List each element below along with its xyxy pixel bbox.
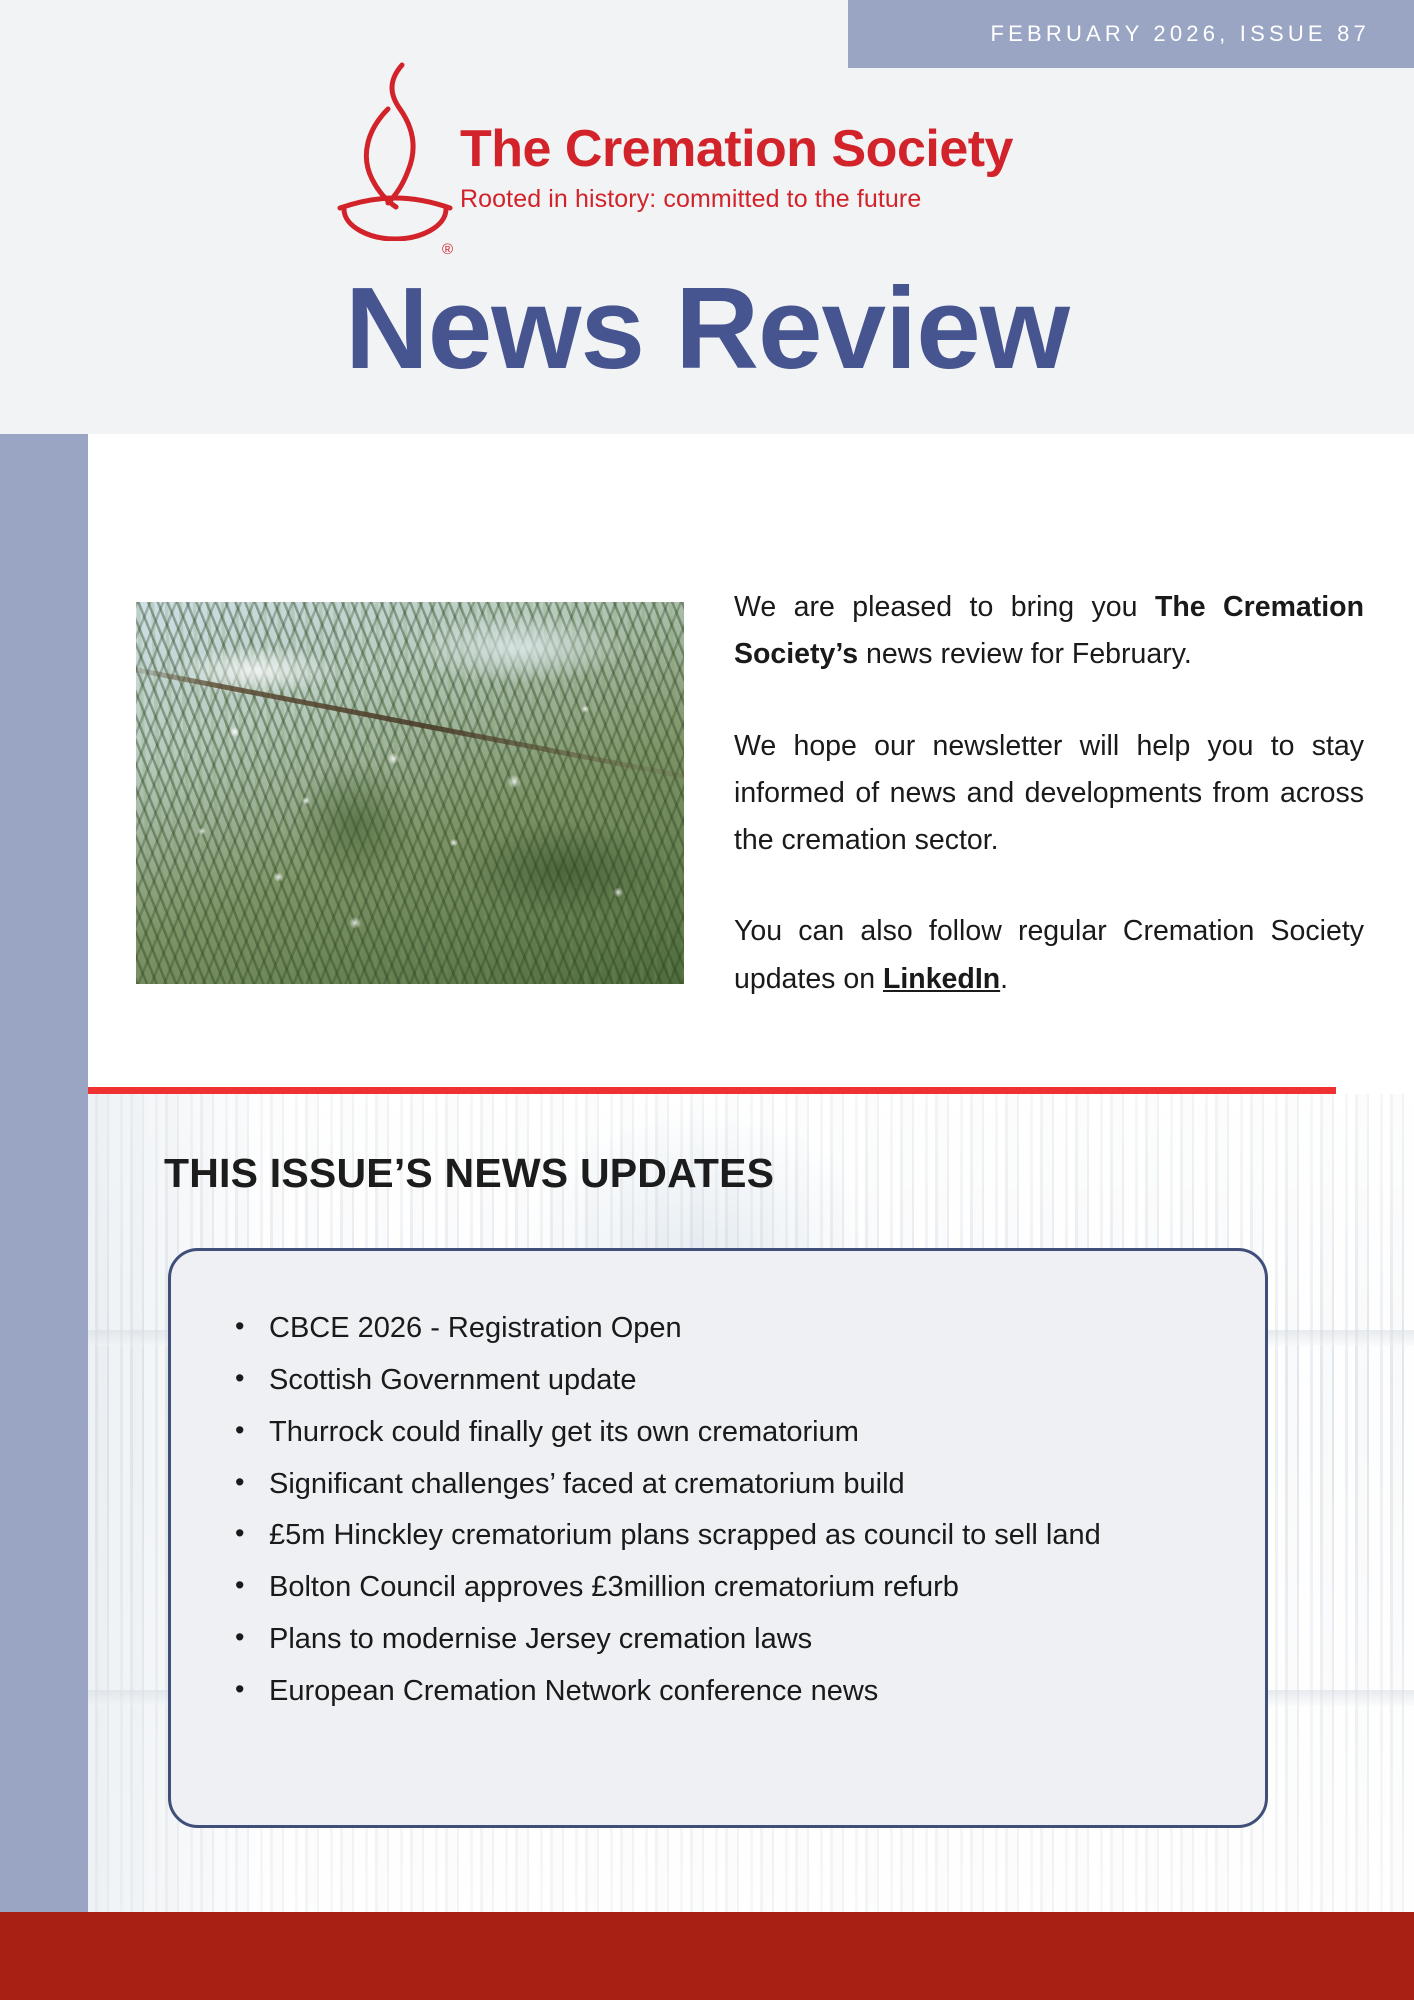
- page-title: News Review: [0, 270, 1414, 386]
- list-item[interactable]: Thurrock could finally get its own crema…: [269, 1413, 1207, 1452]
- issue-date-label: FEBRUARY 2026, ISSUE 87: [991, 21, 1371, 47]
- logo-title: The Cremation Society: [460, 123, 1070, 176]
- intro-paragraph-2: We hope our newsletter will help you to …: [734, 723, 1364, 865]
- intro-paragraph-3: You can also follow regular Cremation So…: [734, 908, 1364, 1003]
- updates-list: CBCE 2026 - Registration Open Scottish G…: [171, 1251, 1265, 1711]
- list-item[interactable]: Bolton Council approves £3million cremat…: [269, 1568, 1207, 1607]
- intro-p1-prefix: We are pleased to bring you: [734, 591, 1155, 623]
- left-accent-rail: [0, 434, 88, 1912]
- dew-droplets-layer: [136, 602, 684, 984]
- section-divider: [88, 1087, 1336, 1094]
- news-updates-section: THIS ISSUE’S NEWS UPDATES CBCE 2026 - Re…: [88, 1094, 1414, 1912]
- updates-box: CBCE 2026 - Registration Open Scottish G…: [168, 1248, 1268, 1828]
- intro-copy: We are pleased to bring you The Crematio…: [734, 584, 1364, 1003]
- footer-bar: [0, 1912, 1414, 2000]
- registered-trademark-symbol: ®: [442, 241, 453, 258]
- intro-p1-suffix: news review for February.: [858, 638, 1192, 670]
- linkedin-link[interactable]: LinkedIn: [883, 963, 1000, 995]
- list-item[interactable]: Plans to modernise Jersey cremation laws: [269, 1620, 1207, 1659]
- society-logo: The Cremation Society Rooted in history:…: [330, 45, 1070, 245]
- list-item[interactable]: CBCE 2026 - Registration Open: [269, 1309, 1207, 1348]
- list-item[interactable]: £5m Hinckley crematorium plans scrapped …: [269, 1516, 1207, 1555]
- intro-p3-suffix: .: [1000, 963, 1008, 995]
- logo-tagline: Rooted in history: committed to the futu…: [460, 185, 1070, 214]
- logo-wordmark: The Cremation Society Rooted in history:…: [460, 123, 1070, 214]
- list-item[interactable]: European Cremation Network conference ne…: [269, 1672, 1207, 1711]
- flame-bowl-logo-icon: [330, 51, 460, 241]
- intro-paragraph-1: We are pleased to bring you The Crematio…: [734, 584, 1364, 679]
- masthead: FEBRUARY 2026, ISSUE 87 The Cremation So…: [0, 0, 1414, 434]
- updates-heading: THIS ISSUE’S NEWS UPDATES: [164, 1150, 774, 1197]
- intro-section: We are pleased to bring you The Crematio…: [88, 434, 1414, 1092]
- newsletter-page: FEBRUARY 2026, ISSUE 87 The Cremation So…: [0, 0, 1414, 2000]
- list-item[interactable]: Scottish Government update: [269, 1361, 1207, 1400]
- list-item[interactable]: Significant challenges’ faced at cremato…: [269, 1465, 1207, 1504]
- intro-photo: [136, 602, 684, 984]
- intro-p3-prefix: You can also follow regular Cremation So…: [734, 915, 1364, 994]
